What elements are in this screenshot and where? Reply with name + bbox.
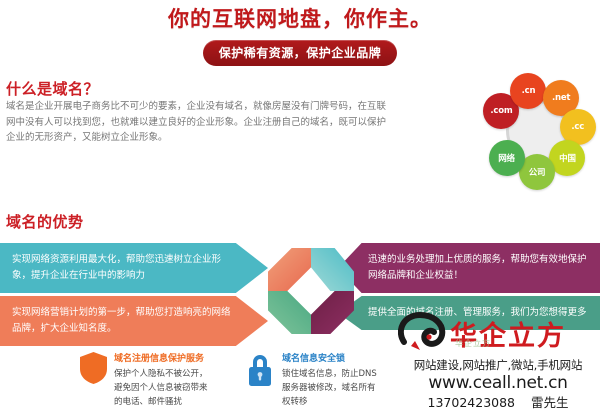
domain-node-label: 公司: [529, 166, 546, 178]
feature-privacy-protection: 域名注册信息保护服务 保护个人隐私不被公开，避免因个人信息被窃带来的电话、邮件骚…: [80, 352, 209, 409]
brand-logo: 华企立方: [398, 310, 598, 354]
promo-page: 你的互联网地盘，你作主。 保护稀有资源，保护企业品牌 什么是域名？ 域名是企业开…: [0, 0, 600, 413]
domain-node-label: .cn: [522, 86, 536, 96]
contact-person: 雷先生: [531, 395, 569, 410]
feature-text-2: 域名信息安全锁 锁住域名信息，防止DNS服务器被修改，域名所有权转移: [282, 352, 377, 409]
diamond-blade-top-right: [311, 248, 354, 291]
domain-node-label: .net: [552, 93, 570, 103]
domain-node-网络: 网络: [489, 140, 525, 176]
page-title: 你的互联网地盘，你作主。: [0, 6, 600, 32]
contact-services: 网站建设,网站推广,微站,手机网站: [396, 357, 600, 373]
advantage-card-2: 实现网络营销计划的第一步，帮助您打造响亮的网络品牌，扩大企业知名度。: [0, 296, 268, 346]
hero-section: 你的互联网地盘，你作主。 保护稀有资源，保护企业品牌: [0, 6, 600, 66]
contact-block: 网站建设,网站推广,微站,手机网站 www.ceall.net.cn 13702…: [396, 357, 600, 411]
contact-phone: 13702423088: [428, 395, 515, 410]
advantage-card-3: 迅速的业务处理加上优质的服务，帮助您有效地保护网络品牌和企业权益！: [338, 243, 600, 293]
advantage-card-1: 实现网络资源利用最大化，帮助您迅速树立企业形象，提升企业在行业中的影响力: [0, 243, 268, 293]
what-is-domain-body: 域名是企业开展电子商务比不可少的要素，企业没有域名，就像房屋没有门牌号码，在互联…: [6, 99, 386, 146]
feature-text-1: 域名注册信息保护服务 保护个人隐私不被公开，避免因个人信息被窃带来的电话、邮件骚…: [114, 352, 209, 409]
contact-website[interactable]: www.ceall.net.cn: [396, 373, 600, 394]
brand-watermark: 华企立方: [455, 338, 491, 349]
feature-desc-1: 保护个人隐私不被公开，避免因个人信息被窃带来的电话、邮件骚扰: [114, 367, 209, 409]
section-heading-advantages: 域名的优势: [6, 211, 84, 232]
diamond-graphic: [268, 248, 354, 334]
swirl-logo-icon: [398, 310, 450, 354]
hero-badge: 保护稀有资源，保护企业品牌: [203, 40, 398, 66]
shield-icon: [80, 352, 107, 384]
feature-title-1: 域名注册信息保护服务: [114, 352, 209, 366]
domain-node-label: 网络: [498, 152, 515, 164]
diamond-blade-bottom-right: [311, 291, 354, 334]
section-heading-what-is-domain: 什么是域名？: [6, 78, 99, 99]
contact-phone-line: 13702423088 雷先生: [396, 394, 600, 411]
feature-title-2: 域名信息安全锁: [282, 352, 377, 366]
domain-node-cc: .cc: [560, 109, 596, 145]
domain-node-label: .com: [490, 106, 512, 116]
diamond-blade-bottom-left: [268, 291, 311, 334]
diamond-blade-top-left: [268, 248, 311, 291]
lock-icon: [245, 352, 275, 386]
feature-desc-2: 锁住域名信息，防止DNS服务器被修改，域名所有权转移: [282, 367, 377, 409]
domain-node-label: .cc: [571, 122, 584, 132]
domain-node-label: 中国: [559, 152, 576, 164]
domain-extensions-diagram: .com.cn.net.cc中国公司网络: [478, 72, 596, 190]
feature-security-lock: 域名信息安全锁 锁住域名信息，防止DNS服务器被修改，域名所有权转移: [245, 352, 377, 409]
